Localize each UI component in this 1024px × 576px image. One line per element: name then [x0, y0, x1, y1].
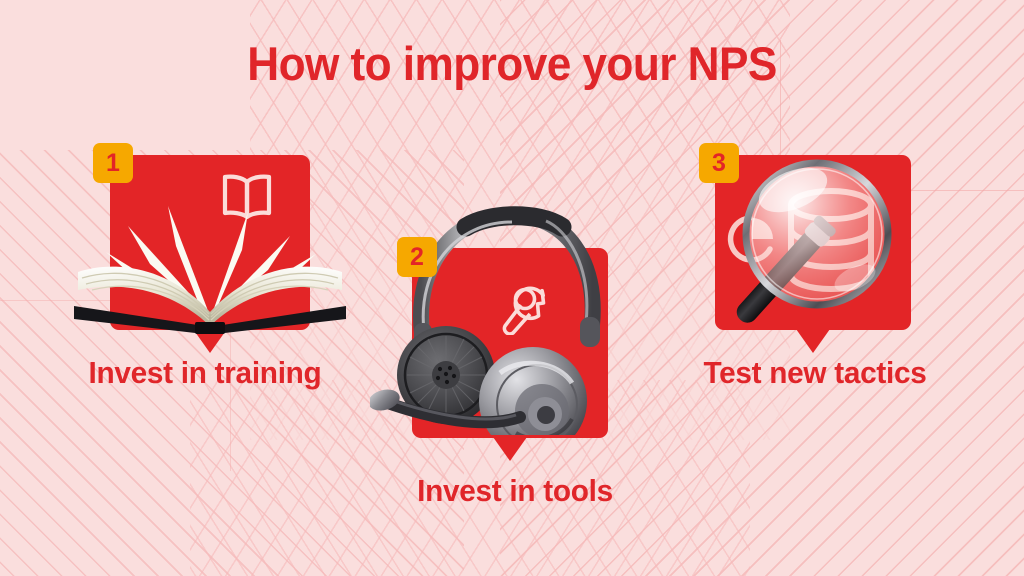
card-caption-2: Invest in tools: [352, 473, 678, 509]
infographic-slide: How to improve your NPS 1: [0, 0, 1024, 576]
card-caption-3: Test new tactics: [652, 355, 978, 391]
card-caption-1: Invest in training: [47, 355, 364, 391]
speech-bubble-tail-2: [493, 437, 527, 461]
open-book-photo: [72, 188, 348, 338]
step-badge-1: 1: [93, 143, 133, 183]
speech-bubble-3: [715, 155, 911, 330]
speech-bubble-tail-3: [796, 329, 830, 353]
page-title: How to improve your NPS: [31, 36, 994, 91]
speech-bubble-2: [412, 248, 608, 438]
